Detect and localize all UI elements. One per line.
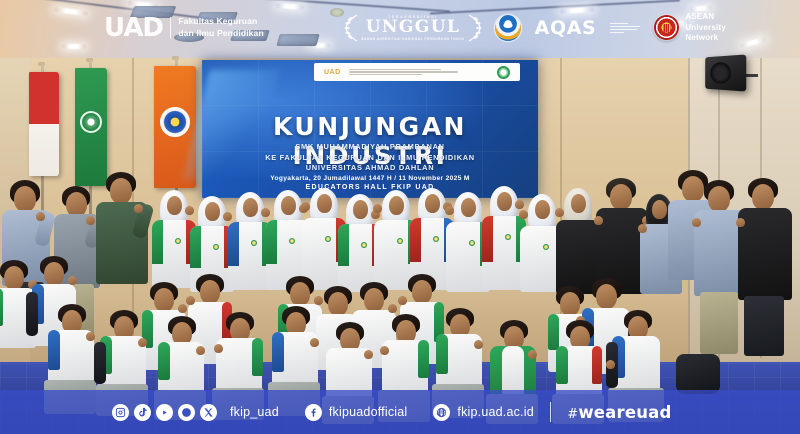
hashtag-weareuad: #weareuad: [567, 403, 671, 422]
facebook-handle[interactable]: fkipuadofficial: [329, 405, 408, 419]
social-handle[interactable]: fkip_uad: [230, 405, 279, 419]
event-photo-poster: UAD KUNJUNGAN INDUSTRI SMK MUHAMMADIYAH …: [0, 0, 800, 434]
threads-icon[interactable]: [178, 404, 195, 421]
social-footer-bar: fkip_uad fkipuadofficial fkip.uad.ac.id …: [0, 390, 800, 434]
screen-subtitle-line1: SMK MUHAMMADIYAH PRAMBANAN: [202, 142, 538, 153]
youtube-icon[interactable]: [156, 404, 173, 421]
instagram-icon[interactable]: [112, 404, 129, 421]
screen-subtitle-line2: KE FAKULTAS KEGURUAN DAN ILMU PENDIDIKAN: [202, 153, 538, 164]
group-photo: UAD KUNJUNGAN INDUSTRI SMK MUHAMMADIYAH …: [0, 0, 800, 434]
screen-header-fineprint: [349, 67, 489, 77]
website-group: fkip.uad.ac.id: [433, 404, 533, 421]
website-url[interactable]: fkip.uad.ac.id: [457, 405, 533, 419]
globe-icon[interactable]: [433, 404, 450, 421]
screen-uad-mark: UAD: [324, 69, 341, 76]
footer-divider: [550, 402, 551, 422]
muhammadiyah-seal-icon: [497, 66, 510, 79]
backpack-on-floor: [676, 354, 720, 394]
hashtag-text: weareuad: [578, 403, 671, 422]
screen-header-strip: UAD: [314, 63, 520, 81]
hash-symbol: #: [567, 407, 578, 422]
facebook-icon[interactable]: [305, 404, 322, 421]
tiktok-icon[interactable]: [134, 404, 151, 421]
ceiling: [0, 0, 800, 62]
facebook-group: fkipuadofficial: [305, 404, 408, 421]
wall-speaker: [705, 54, 746, 91]
social-icon-row: fkip_uad: [112, 404, 279, 421]
x-icon[interactable]: [200, 404, 217, 421]
